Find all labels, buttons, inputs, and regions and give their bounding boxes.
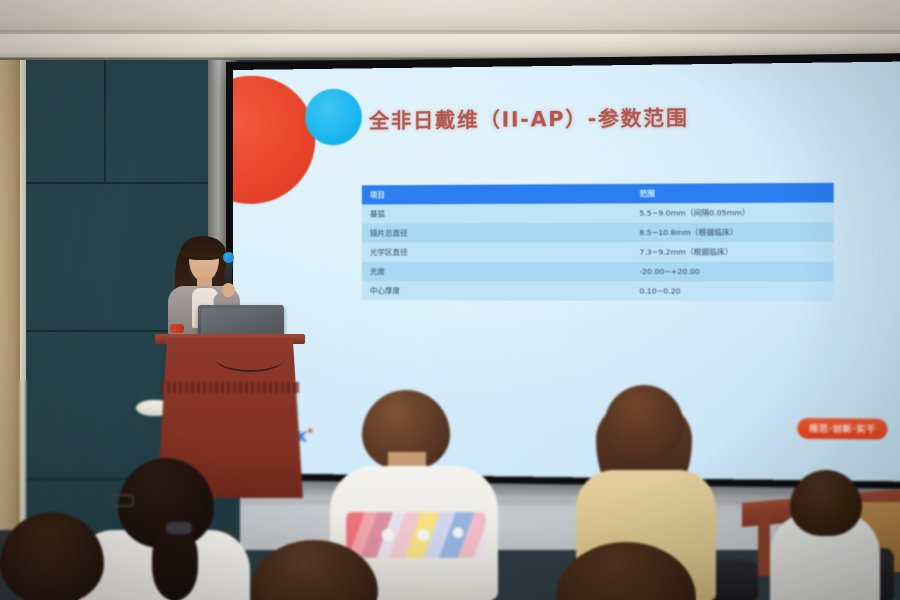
laptop-screen [201,308,281,335]
table-row: 中心厚度0.10~0.20 [362,281,834,301]
table-row: 镜片总直径8.5~10.8mm（根据临床） [362,222,834,243]
presentation-photo: 全非日戴维（II-AP）-参数范围 项目范围基弧5.5~9.0mm（间隔0.05… [0,0,900,600]
microphone-head [223,252,234,263]
speaker-eye-left [195,258,199,260]
door-frame [0,60,22,530]
eyeglasses [112,494,134,507]
table-cell-item: 基弧 [362,203,631,223]
table-cell-item: 镜片总直径 [362,223,631,243]
table-cell-range: 7.3~9.2mm（根据临床） [631,242,834,262]
projection-screen: 全非日戴维（II-AP）-参数范围 项目范围基弧5.5~9.0mm（间隔0.05… [233,61,900,481]
table-cell-range: 5.5~9.0mm（间隔0.05mm） [631,203,834,223]
table-header-cell: 项目 [362,184,631,205]
table-row: 光学区直径7.3~9.2mm（根据临床） [362,242,834,262]
slogan-badge: 规范·创新·实干 [797,418,888,440]
tshirt-graphic-detail [346,512,486,558]
table-header-cell: 范围 [631,183,834,204]
table-cell-item: 中心厚度 [362,281,631,301]
table-row: 基弧5.5~9.0mm（间隔0.05mm） [362,203,834,224]
side-table-leg [758,516,770,576]
door-frame-edge [20,60,26,530]
speaker-hand [222,283,235,297]
table-cell-range: 8.5~10.8mm（根据临床） [631,222,834,242]
audience-far-right-head [790,470,862,536]
audience-right-head [604,385,684,459]
speaker-wristband [170,324,184,333]
slide-title: 全非日戴维（II-AP）-参数范围 [369,101,689,134]
table-row: 光度-20.00~+20.00 [362,262,834,282]
table-cell-item: 光学区直径 [362,242,631,262]
table-cell-range: -20.00~+20.00 [631,262,834,282]
table-cell-range: 0.10~0.20 [631,281,834,301]
table-cell-item: 光度 [362,262,631,281]
decor-cyan-circle [305,89,362,146]
table-header-row: 项目范围 [362,183,834,205]
panel-seam-vertical [104,60,106,182]
audience-front-left-ponytail [152,528,198,600]
speaker-eye-right [208,258,212,260]
hair-tie [166,522,192,534]
parameter-table: 项目范围基弧5.5~9.0mm（间隔0.05mm）镜片总直径8.5~10.8mm… [362,183,834,301]
ceiling [0,0,900,34]
cable [215,344,285,372]
panel-seam [26,182,208,184]
podium-decor-band [161,382,299,393]
